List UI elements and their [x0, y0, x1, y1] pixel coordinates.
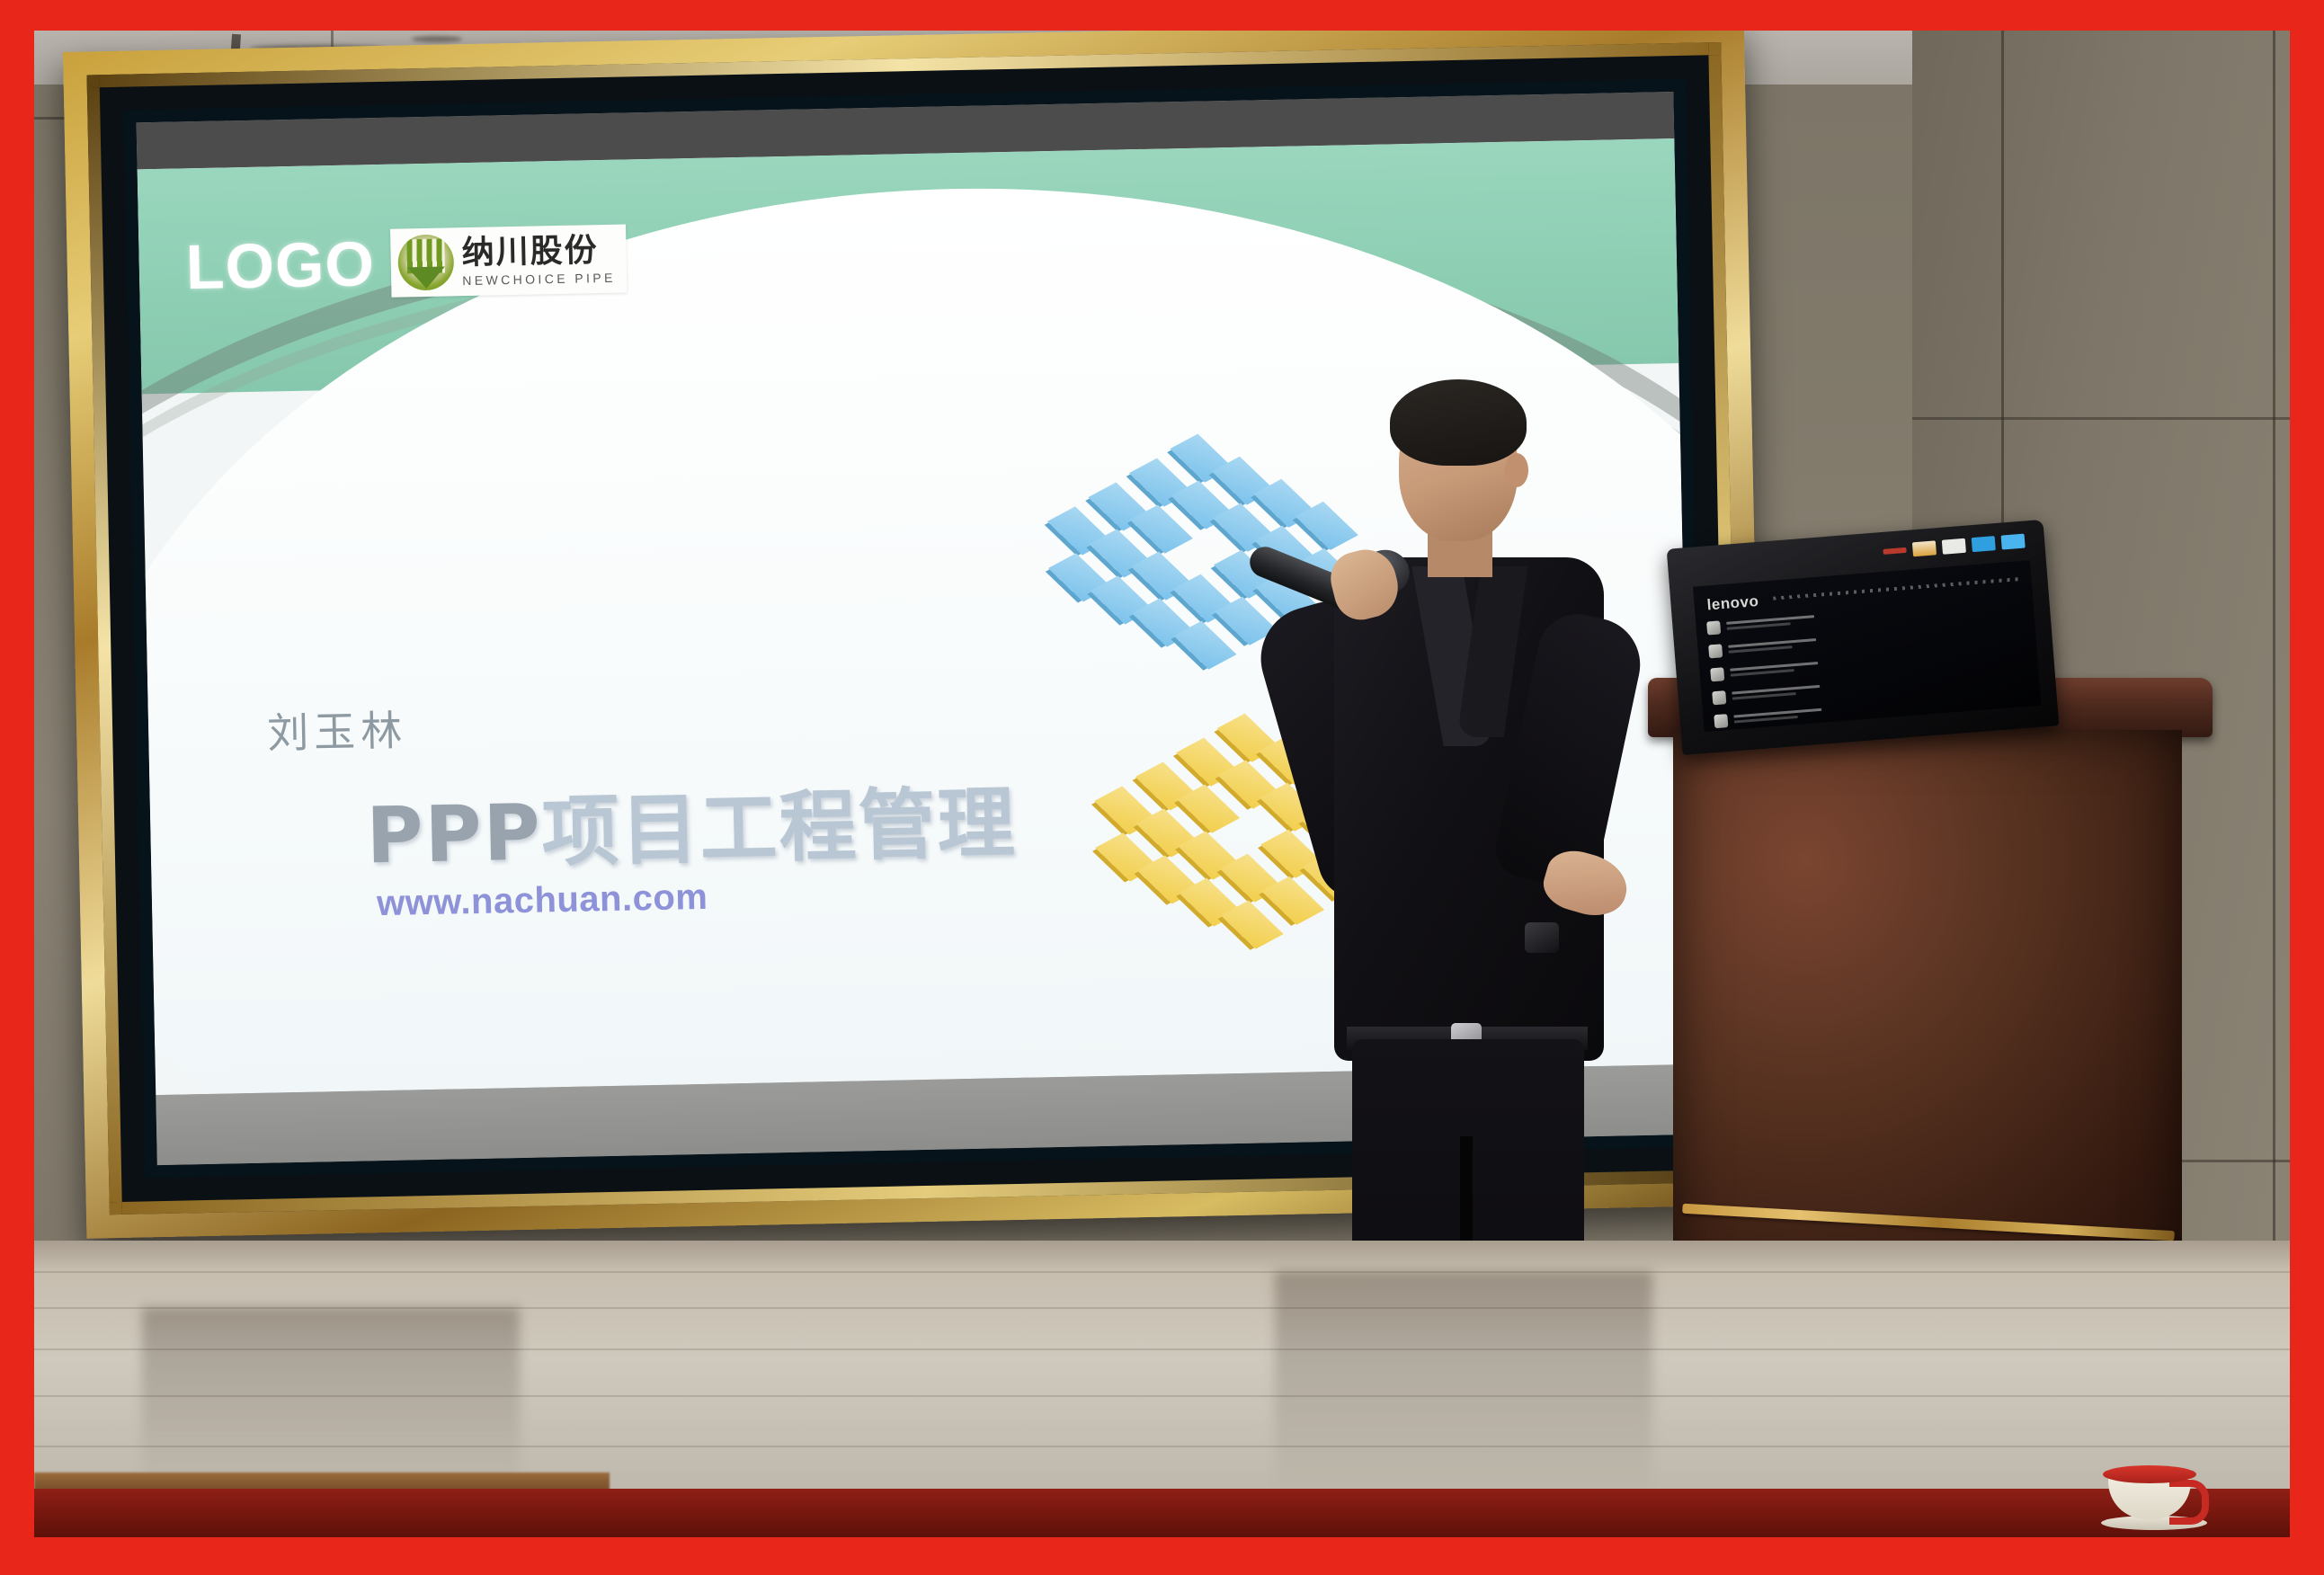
nachuan-emblem-icon: [397, 234, 454, 290]
lenovo-monitor[interactable]: lenovo: [1667, 520, 2060, 755]
brand-text-block: 纳川股份 NEWCHOICE PIPE: [461, 234, 616, 286]
presenter-ear: [1505, 453, 1528, 487]
osd-menu-item[interactable]: [1712, 683, 1821, 705]
lenovo-brand-text: lenovo: [1706, 592, 1759, 614]
brand-logo-box: 纳川股份 NEWCHOICE PIPE: [390, 224, 627, 297]
osd-menu-list[interactable]: [1706, 613, 1825, 732]
slide-title: PPP项目工程管理: [365, 760, 1017, 885]
brand-english-name: NEWCHOICE PIPE: [462, 271, 616, 286]
monitor-screen[interactable]: lenovo: [1693, 560, 2042, 732]
presenter-hair: [1390, 379, 1527, 466]
teacup-handle: [2169, 1480, 2209, 1525]
osd-item-label: [1730, 662, 1819, 680]
photo-frame-stage: LOGO 纳川股份 NEWCHOICE PIPE: [0, 0, 2324, 1575]
osd-item-icon: [1714, 714, 1728, 728]
slide-website-url: www.nachuan.com: [377, 877, 708, 924]
osd-menu-item[interactable]: [1708, 636, 1817, 658]
osd-item-icon: [1708, 644, 1723, 658]
red-carpet: [34, 1489, 2290, 1537]
osd-item-label: [1726, 615, 1815, 633]
presenter-lapel-badge: [1525, 922, 1559, 953]
slide-title-latin: PPP: [366, 787, 543, 881]
osd-menu-item[interactable]: [1710, 660, 1819, 681]
slide-logo-lockup: LOGO 纳川股份 NEWCHOICE PIPE: [185, 224, 627, 301]
wall-seam: [2273, 31, 2275, 1289]
osd-item-icon: [1712, 690, 1726, 705]
teacup-rim: [2103, 1465, 2196, 1483]
photograph: LOGO 纳川股份 NEWCHOICE PIPE: [34, 31, 2290, 1537]
slide-speaker-name: 刘玉林: [267, 698, 408, 760]
osd-dotted-divider: [1773, 577, 2022, 601]
osd-item-label: [1728, 638, 1817, 656]
brand-chinese-name: 纳川股份: [461, 234, 615, 269]
osd-item-icon: [1710, 667, 1724, 681]
osd-tab-white: [1942, 538, 1966, 555]
floor-reflection: [142, 1307, 520, 1487]
logo-placeholder-text: LOGO: [185, 232, 375, 298]
floor-reflection: [1275, 1271, 1652, 1496]
osd-tab-blue-light: [2001, 534, 2026, 550]
ceiling-mark: [412, 36, 462, 42]
osd-tab-red: [1883, 547, 1906, 555]
slide-title-chinese: 项目工程管理: [541, 779, 1018, 878]
teacup: [2101, 1464, 2209, 1530]
osd-item-label: [1732, 684, 1821, 702]
wall-seam: [1912, 417, 2290, 420]
osd-item-icon: [1706, 620, 1721, 635]
wood-floor: [34, 1241, 2290, 1537]
osd-item-label: [1733, 707, 1822, 725]
osd-menu-item[interactable]: [1706, 613, 1815, 635]
osd-tab-orange: [1912, 540, 1937, 556]
osd-tab-blue: [1972, 536, 1996, 552]
